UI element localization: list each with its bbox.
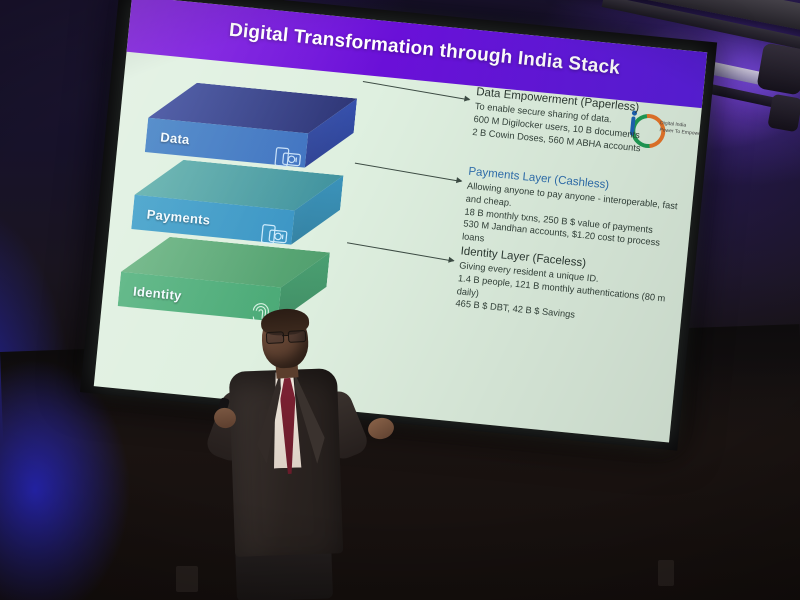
speaker-glasses bbox=[266, 330, 308, 342]
stage-prop-right bbox=[658, 560, 674, 586]
speaker bbox=[0, 0, 800, 600]
glasses-lens-right bbox=[288, 330, 307, 343]
speaker-right-hand bbox=[366, 416, 396, 442]
stage-prop-left bbox=[176, 566, 198, 592]
screenshot-root: Digital Transformation through India Sta… bbox=[0, 0, 800, 600]
glasses-lens-left bbox=[266, 331, 285, 344]
